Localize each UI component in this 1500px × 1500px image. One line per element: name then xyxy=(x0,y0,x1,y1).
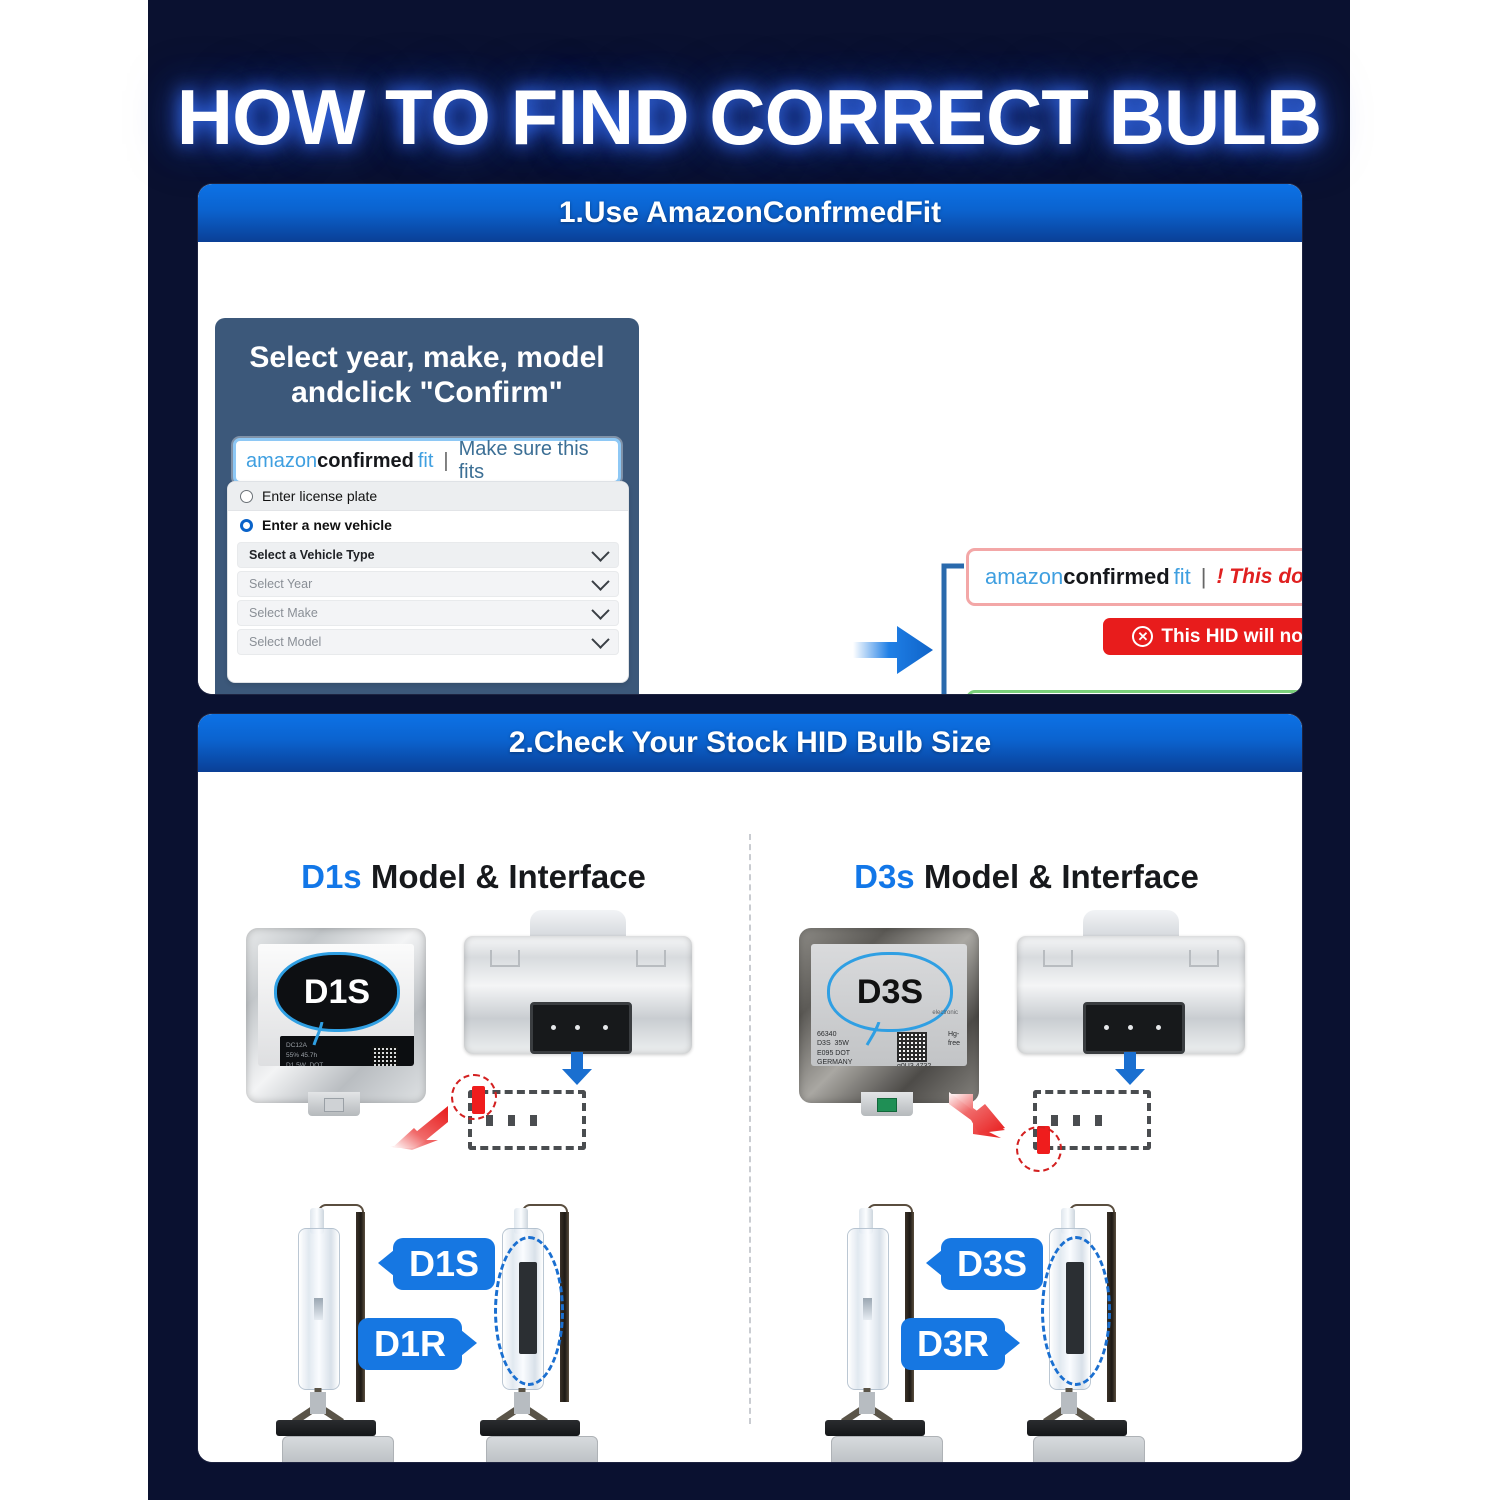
d3r-bulb-right xyxy=(1033,1202,1129,1452)
select-model[interactable]: Select Model xyxy=(237,629,619,655)
d1s-bulb-arc xyxy=(314,1298,323,1320)
d3s-label-left-lines: 66340D3S 35WE095 DOTGERMANYCBI xyxy=(817,1030,852,1066)
acf-fit-text: fit xyxy=(418,450,434,473)
d3s-bulb-pair: D3S D3R xyxy=(751,1202,1302,1462)
d3s-bubble-tail-icon xyxy=(865,1022,885,1046)
chevron-down-icon xyxy=(591,630,609,648)
nofit-status-text: ! This does not fit xyxy=(1216,565,1302,589)
flow-arrow-icon xyxy=(853,622,933,678)
d1s-bulb-clamp xyxy=(286,1388,350,1424)
radio-option-license-plate[interactable]: Enter license plate xyxy=(228,482,628,511)
d3s-label-codes: q0U3 4732519723 xyxy=(897,1062,931,1066)
vehicle-form-panel: Enter license plate Enter a new vehicle … xyxy=(227,481,629,683)
nofit-fit-text: fit xyxy=(1174,564,1191,590)
d1s-label-qr-code xyxy=(372,1046,398,1066)
d3s-connector-photo xyxy=(1001,910,1261,1110)
acf-make-sure-this-fits: Make sure this fits xyxy=(459,438,608,484)
d3s-label-electronic: electronic xyxy=(932,1010,958,1016)
d3s-pin-2 xyxy=(1128,1025,1133,1030)
column-d1s-title: D1s Model & Interface xyxy=(198,858,749,896)
d1s-notch-right xyxy=(636,950,666,967)
amazon-confirmed-fit-no-fit-box: amazonconfirmedfit | ! This does not fit xyxy=(966,548,1302,606)
chevron-down-icon xyxy=(591,601,609,619)
d1s-connector-block xyxy=(530,1002,632,1054)
d1r-highlight-ellipse xyxy=(494,1236,564,1386)
d3s-bulb-rod xyxy=(905,1212,914,1402)
column-d3s: D3s Model & Interface D3S electronic 663… xyxy=(751,772,1302,1462)
d1s-pin-3 xyxy=(603,1025,608,1030)
select-make-label: Select Make xyxy=(249,606,318,620)
d1s-schematic-pin-3 xyxy=(530,1115,537,1126)
column-d1s: D1s Model & Interface DC12A55% 45.7hD1.5… xyxy=(198,772,749,1462)
nofit-separator: | xyxy=(1201,564,1207,590)
column-d3s-title-rest: Model & Interface xyxy=(915,858,1199,895)
d3s-schematic-pin-3 xyxy=(1095,1115,1102,1126)
chevron-down-icon xyxy=(591,543,609,561)
select-year[interactable]: Select Year xyxy=(237,571,619,597)
d1s-bulb-cap-photo: DC12A55% 45.7hD1.5W DOT D1S xyxy=(236,922,436,1122)
d3s-callout-bubble: D3S xyxy=(827,952,953,1032)
d1s-red-pointer-arrow-icon xyxy=(390,1102,452,1150)
column-d1s-title-highlight: D1s xyxy=(301,858,362,895)
d3s-down-arrow-icon xyxy=(1113,1052,1147,1086)
d1s-label-dark-strip: DC12A55% 45.7hD1.5W DOT xyxy=(280,1036,414,1066)
d1r-bulb-disc xyxy=(480,1420,580,1436)
d1r-tag: D1R xyxy=(358,1318,462,1370)
radio-circle-icon[interactable] xyxy=(240,490,253,503)
bracket-connector-icon xyxy=(936,562,966,694)
d3s-red-pointer-arrow-icon xyxy=(949,1090,1011,1138)
amazon-confirmed-fit-bar[interactable]: amazonconfirmedfit | Make sure this fits xyxy=(233,438,621,484)
chevron-down-icon xyxy=(591,572,609,590)
section-1-header-title: 1.Use AmazonConfrmedFit xyxy=(559,196,941,230)
d1s-down-arrow-icon xyxy=(560,1052,594,1086)
hid-will-not-fit-text: This HID will not fit your vehicle xyxy=(1161,626,1302,648)
radio-label-new-vehicle: Enter a new vehicle xyxy=(262,517,392,533)
d3s-label-qr-code xyxy=(897,1032,927,1062)
hid-will-not-fit-banner: ✕ This HID will not fit your vehicle xyxy=(1103,618,1302,655)
d1s-bulb-box xyxy=(282,1436,394,1462)
nofit-amazon-text: amazon xyxy=(985,564,1063,590)
section-2-body: D1s Model & Interface DC12A55% 45.7hD1.5… xyxy=(198,772,1302,1462)
d3s-notch-right xyxy=(1189,950,1219,967)
d3s-connector-block xyxy=(1083,1002,1185,1054)
select-model-label: Select Model xyxy=(249,635,321,649)
d3s-bulb-arc xyxy=(863,1298,872,1320)
d1s-notch-left xyxy=(490,950,520,967)
column-d3s-title: D3s Model & Interface xyxy=(751,858,1302,896)
d3s-schematic-pin-1 xyxy=(1051,1115,1058,1126)
radio-circle-selected-icon[interactable] xyxy=(240,519,253,532)
d3s-cap-label: D3S electronic 66340D3S 35WE095 DOTGERMA… xyxy=(811,944,967,1066)
d1s-schematic-pins xyxy=(486,1115,537,1126)
d3r-bulb-disc xyxy=(1027,1420,1127,1436)
d1s-cap-chip xyxy=(324,1098,344,1112)
d1s-pin-2 xyxy=(575,1025,580,1030)
d3s-label-right-lines: Hg-free xyxy=(948,1030,960,1049)
d3r-bulb-box xyxy=(1033,1436,1145,1462)
d1s-bulb-pair: D1S D1R xyxy=(198,1202,749,1462)
d3s-bulb-clamp xyxy=(835,1388,899,1424)
d3s-red-highlight-circle xyxy=(1016,1126,1062,1172)
section-1-card: 1.Use AmazonConfrmedFit Select year, mak… xyxy=(198,184,1302,694)
d1s-bulb-disc xyxy=(276,1420,376,1436)
select-vehicle-type[interactable]: Select a Vehicle Type xyxy=(237,542,619,568)
d3s-pin-3 xyxy=(1156,1025,1161,1030)
d3s-bulb-box xyxy=(831,1436,943,1462)
vehicle-selector-title: Select year, make, model andclick "Confi… xyxy=(231,340,623,411)
x-circle-icon: ✕ xyxy=(1132,626,1153,647)
d1s-callout-bubble: D1S xyxy=(274,952,400,1032)
column-d1s-title-rest: Model & Interface xyxy=(362,858,646,895)
d3r-highlight-ellipse xyxy=(1041,1236,1111,1386)
d1r-bulb-box xyxy=(486,1436,598,1462)
d1s-schematic-pin-2 xyxy=(508,1115,515,1126)
section-2-card: 2.Check Your Stock HID Bulb Size D1s Mod… xyxy=(198,714,1302,1462)
nofit-confirmed-text: confirmed xyxy=(1063,564,1169,590)
vehicle-selector-panel: Select year, make, model andclick "Confi… xyxy=(215,318,639,694)
section-2-header-title: 2.Check Your Stock HID Bulb Size xyxy=(509,726,991,760)
radio-option-new-vehicle[interactable]: Enter a new vehicle xyxy=(228,511,628,539)
acf-separator: | xyxy=(443,450,448,473)
select-year-label: Select Year xyxy=(249,577,312,591)
infographic-root: HOW TO FIND CORRECT BULB 1.Use AmazonCon… xyxy=(0,0,1500,1500)
d1r-bulb-right xyxy=(486,1202,582,1452)
d3r-tag: D3R xyxy=(901,1318,1005,1370)
page-title: HOW TO FIND CORRECT BULB xyxy=(148,72,1350,163)
d3s-notch-left xyxy=(1043,950,1073,967)
section-1-body: Select year, make, model andclick "Confi… xyxy=(198,242,1302,694)
acf-confirmed-text: confirmed xyxy=(317,450,414,473)
d1s-red-highlight-circle xyxy=(451,1074,497,1120)
d1r-bulb-clamp xyxy=(490,1388,554,1424)
d1s-schematic-pin-1 xyxy=(486,1115,493,1126)
d3s-schematic-pin-2 xyxy=(1073,1115,1080,1126)
column-d3s-title-highlight: D3s xyxy=(854,858,915,895)
d3s-tag: D3S xyxy=(941,1238,1043,1290)
select-make[interactable]: Select Make xyxy=(237,600,619,626)
select-vehicle-type-label: Select a Vehicle Type xyxy=(249,548,375,562)
d1s-pin-1 xyxy=(551,1025,556,1030)
d3s-pin-1 xyxy=(1104,1025,1109,1030)
section-2-header: 2.Check Your Stock HID Bulb Size xyxy=(198,714,1302,772)
d1s-bubble-tail-icon xyxy=(312,1022,332,1046)
acf-amazon-text: amazon xyxy=(246,450,317,473)
d1s-cap-label: DC12A55% 45.7hD1.5W DOT D1S xyxy=(258,944,414,1066)
d3s-cap-chip xyxy=(877,1098,897,1112)
section-1-header: 1.Use AmazonConfrmedFit xyxy=(198,184,1302,242)
d3r-bulb-clamp xyxy=(1037,1388,1101,1424)
d1s-tag: D1S xyxy=(393,1238,495,1290)
d3s-schematic-pins xyxy=(1051,1115,1102,1126)
radio-label-license-plate: Enter license plate xyxy=(262,488,377,504)
amazon-confirmed-fit-fits-box: amazonconfirmedfit | i ✓ This fits xyxy=(966,690,1302,694)
d3s-bulb-disc xyxy=(825,1420,925,1436)
d1s-bulb-rod xyxy=(356,1212,365,1402)
